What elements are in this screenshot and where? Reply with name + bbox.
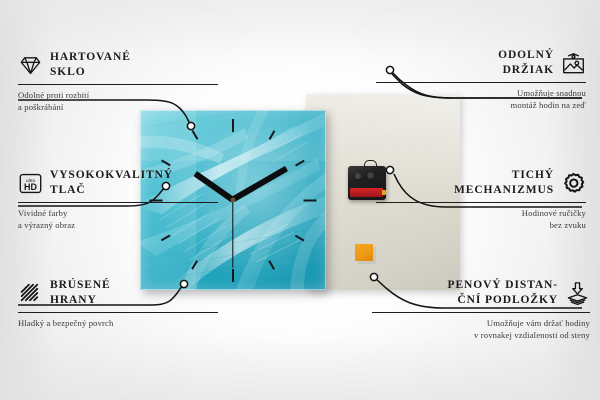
callout-head: HARTOVANÉ SKLO xyxy=(18,50,218,81)
callout-head: ultra HD VYSOKOKVALITNÝ TLAČ xyxy=(18,168,218,199)
callout-description: Hladký a bezpečný povrch xyxy=(18,317,218,329)
callout-title: BRÚSENÉ HRANY xyxy=(50,278,111,309)
gear-icon xyxy=(561,171,586,196)
callout-divider xyxy=(376,202,586,203)
callout-title: VYSOKOKVALITNÝ TLAČ xyxy=(50,168,173,199)
callout-head: TICHÝ MECHANIZMUS xyxy=(376,168,586,199)
ground-edges-icon xyxy=(18,281,43,306)
ultra-hd-icon: ultra HD xyxy=(18,171,43,196)
diamond-icon xyxy=(18,53,43,78)
callout-description: Vividné farby a výrazný obraz xyxy=(18,207,218,232)
callout-description: Hodinové ručičky bez zvuku xyxy=(376,207,586,232)
callout-divider xyxy=(376,82,586,83)
callout-description: Umožňuje snadnou montáž hodin na zeď xyxy=(376,87,586,112)
callout-head: ODOLNÝ DRŽIAK xyxy=(376,48,586,79)
callout-description: Umožňuje vám držať hodiny v rovnakej vzd… xyxy=(372,317,590,342)
picture-frame-icon xyxy=(561,51,586,76)
callout-head: PENOVÝ DISTAN- ČNÍ PODLOŽKY xyxy=(372,278,590,309)
callout-head: BRÚSENÉ HRANY xyxy=(18,278,218,309)
clock-tick xyxy=(304,199,317,201)
callout-silent-mechanism: TICHÝ MECHANIZMUS Hodinové ručičky bez z… xyxy=(376,168,586,231)
clock-hands-hub xyxy=(231,198,236,203)
callout-divider xyxy=(18,202,218,203)
callout-tempered-glass: HARTOVANÉ SKLO Odolné proti rozbití a po… xyxy=(18,50,218,113)
callout-divider xyxy=(372,312,590,313)
callout-high-quality-print: ultra HD VYSOKOKVALITNÝ TLAČ Vividné far… xyxy=(18,168,218,231)
callout-divider xyxy=(18,84,218,85)
callout-foam-spacers: PENOVÝ DISTAN- ČNÍ PODLOŽKY Umožňuje vám… xyxy=(372,278,590,341)
callout-ground-edges: BRÚSENÉ HRANY Hladký a bezpečný povrch xyxy=(18,278,218,329)
callout-title: TICHÝ MECHANIZMUS xyxy=(454,168,554,199)
callout-title: ODOLNÝ DRŽIAK xyxy=(498,48,554,79)
foam-spacer-pad xyxy=(355,244,373,261)
press-layers-icon xyxy=(565,281,590,306)
callout-divider xyxy=(18,312,218,313)
callout-description: Odolné proti rozbití a poškrábání xyxy=(18,89,218,114)
svg-text:HD: HD xyxy=(24,182,37,192)
infographic-canvas: HARTOVANÉ SKLO Odolné proti rozbití a po… xyxy=(0,0,600,400)
callout-durable-holder: ODOLNÝ DRŽIAK Umožňuje snadnou montáž ho… xyxy=(376,48,586,111)
clock-tick xyxy=(232,269,234,282)
callout-title: PENOVÝ DISTAN- ČNÍ PODLOŽKY xyxy=(448,278,558,309)
clock-tick xyxy=(232,119,234,132)
callout-title: HARTOVANÉ SKLO xyxy=(50,50,131,81)
